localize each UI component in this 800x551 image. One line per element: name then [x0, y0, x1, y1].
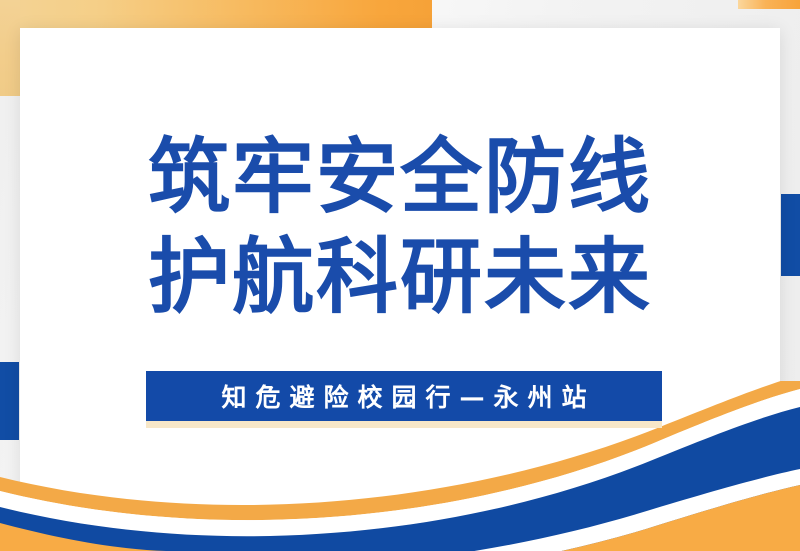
- poster-canvas: 筑牢安全防线 护航科研未来 知危避险校园行—永州站: [0, 0, 800, 551]
- subtitle-banner-wrapper: 知危避险校园行—永州站: [146, 371, 662, 428]
- headline-block: 筑牢安全防线 护航科研未来: [0, 128, 800, 328]
- subtitle-banner-underline: [146, 421, 662, 428]
- orange-left-bracket-bar: [0, 0, 20, 96]
- headline-line-1: 筑牢安全防线: [0, 128, 800, 228]
- orange-top-bracket-bar: [0, 0, 432, 28]
- blue-left-side-tab: [0, 362, 19, 440]
- subtitle-banner-text: 知危避险校园行—永州站: [212, 378, 595, 414]
- orange-top-right-nub: [738, 0, 800, 9]
- subtitle-banner: 知危避险校园行—永州站: [146, 371, 662, 421]
- headline-line-2: 护航科研未来: [0, 228, 800, 328]
